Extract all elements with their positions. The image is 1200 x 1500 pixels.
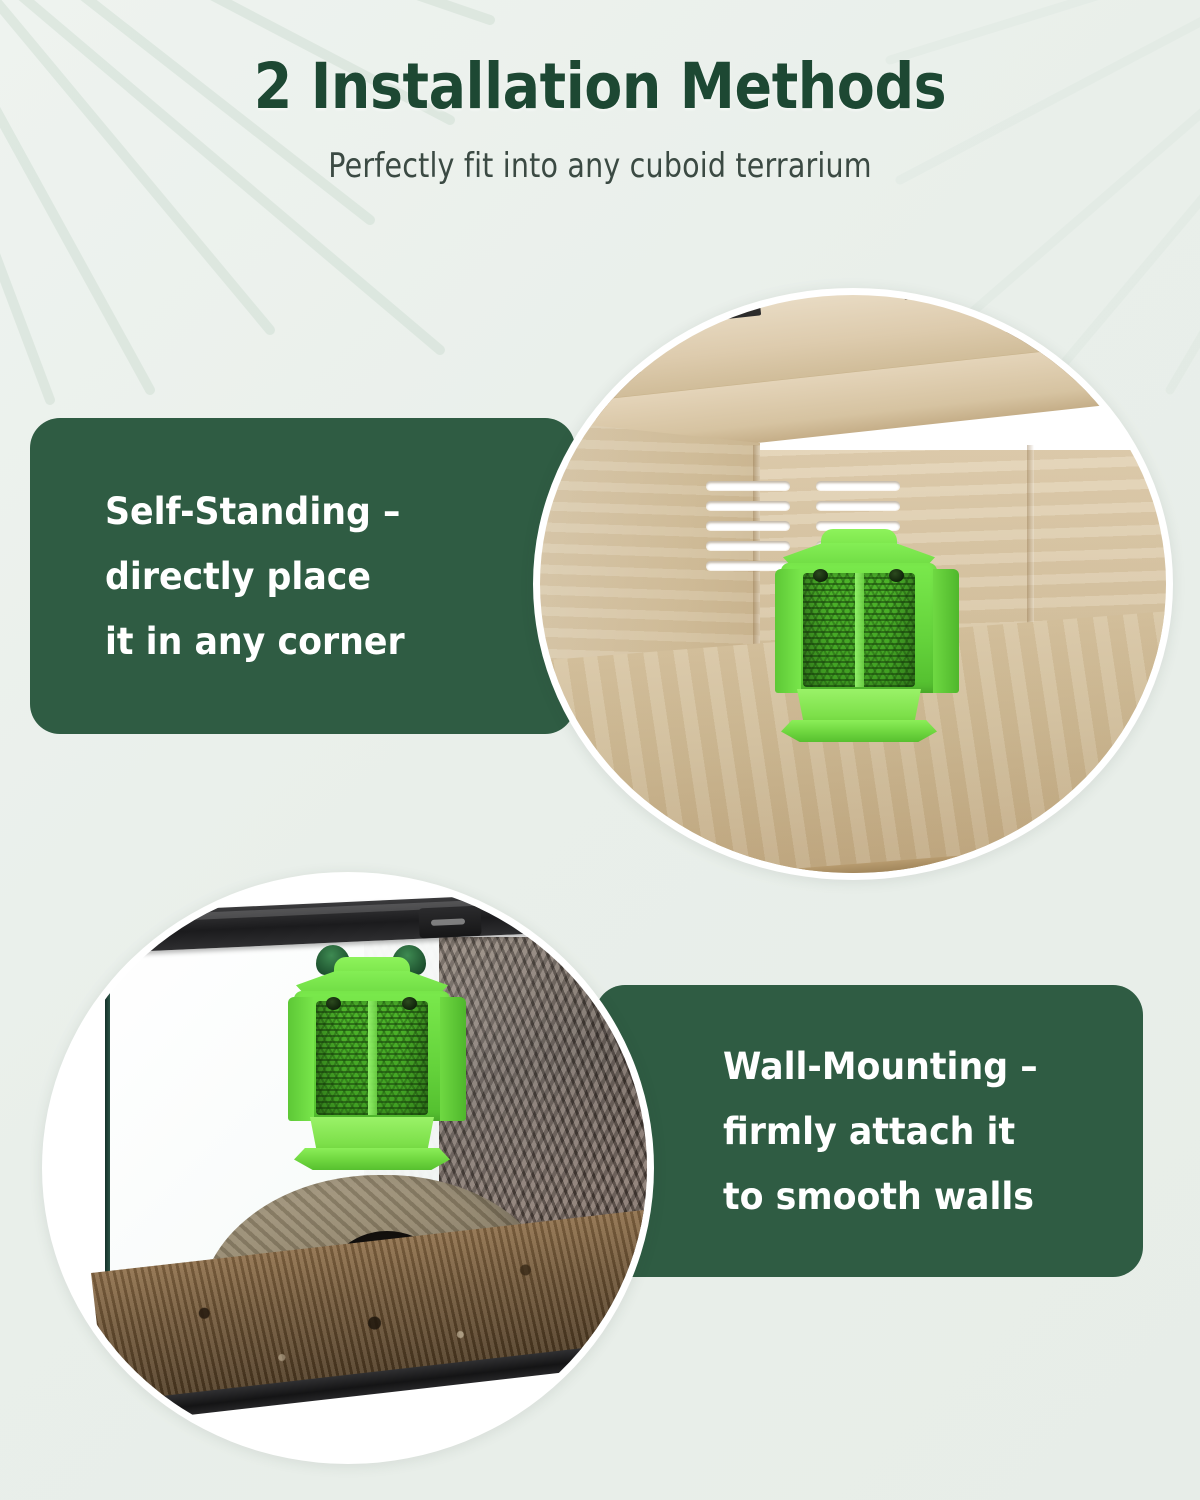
product-corner-feeder-standing [773,517,961,745]
wooden-terrarium-scene [540,295,1166,873]
photo-wooden-terrarium [533,288,1173,880]
callout-line: directly place [105,544,509,609]
callout-line: it in any corner [105,609,509,674]
mesh-shadow-right [402,1001,428,1115]
callout-wall-mounting: Wall-Mounting – firmly attach it to smoo… [595,985,1143,1277]
callout-line: firmly attach it [723,1099,1080,1164]
product-shell [781,563,937,693]
product-mesh-panel [316,1001,428,1115]
callout-self-standing: Self-Standing – directly place it in any… [30,418,575,734]
product-wing-left [775,569,801,693]
product-shell [294,991,450,1121]
glass-terrarium-scene [49,879,647,1457]
vent-slot [706,501,790,510]
mesh-shadow-left [316,1001,342,1115]
product-wing-right [933,569,959,693]
mount-hole-icon [889,569,904,582]
product-base [781,720,937,742]
mount-hole-icon [813,569,828,582]
product-base [294,1148,450,1170]
callout-line: Self-Standing – [105,479,509,544]
mesh-shadow-right [889,573,915,687]
callout-line: Wall-Mounting – [723,1034,1080,1099]
header: 2 Installation Methods Perfectly fit int… [0,0,1200,186]
frame-latch-icon [418,906,481,939]
vent-slot [816,481,900,490]
product-corner-feeder-wall-mounted [286,945,468,1167]
page-title: 2 Installation Methods [72,54,1128,120]
product-wing-right [440,997,466,1121]
lid-hinge-icon [714,300,761,320]
photo-glass-terrarium [42,872,654,1464]
terrarium-corner-post [79,1377,115,1419]
product-mesh-panel [803,573,915,687]
mount-hole-icon [402,997,417,1010]
vent-slot [706,481,790,490]
mesh-shadow-left [803,573,829,687]
page-subtitle: Perfectly fit into any cuboid terrarium [96,146,1104,186]
mesh-center-fold [368,1001,377,1115]
vent-slot [816,501,900,510]
product-wing-left [288,997,314,1121]
mesh-center-fold [855,573,864,687]
mount-hole-icon [326,997,341,1010]
callout-line: to smooth walls [723,1164,1080,1229]
